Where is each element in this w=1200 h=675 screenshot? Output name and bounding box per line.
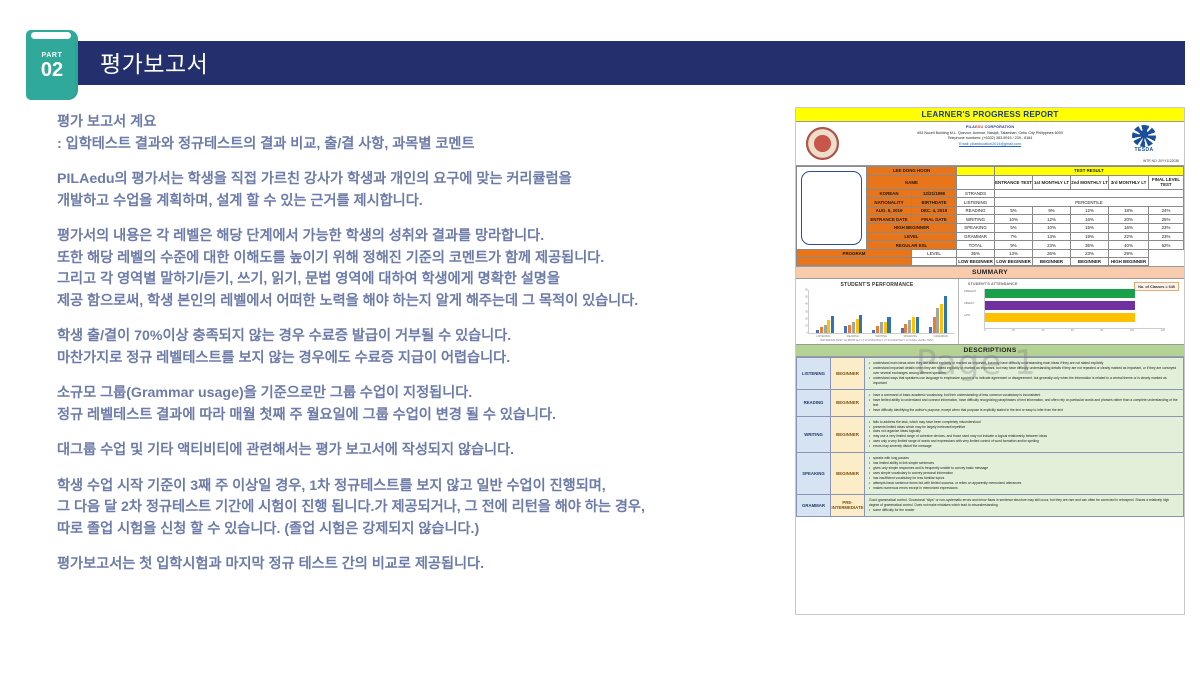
x-tick: 60	[1071, 329, 1074, 332]
table-row: LEE DONG HOONTEST RESULT	[797, 167, 1184, 176]
result-column-header-4: FINAL LEVEL TEST	[1149, 175, 1184, 189]
bar	[872, 330, 875, 334]
value-3-4: 52%	[1149, 241, 1184, 250]
paragraph-line: PILAedu의 평가서는 학생을 직접 가르친 강사가 학생과 개인의 요구에…	[57, 169, 777, 191]
paragraph-line: 마찬가지로 정규 레벨테스트를 보지 않는 경우에도 수료증 지급이 어렵습니다…	[57, 348, 777, 370]
attendance-label: ABSENT	[964, 302, 974, 305]
bar	[859, 315, 862, 333]
description-bullet: have difficulty identifying the author's…	[869, 408, 1179, 413]
x-tick-label: LISTENING	[816, 335, 830, 338]
paragraph-line: 또한 해당 레벨의 수준에 대한 이해도를 높이기 위해 정해진 기준의 코멘트…	[57, 248, 777, 270]
info-program-pad	[797, 258, 912, 266]
body-copy: 평가 보고서 계요: 입학테스트 결과와 정규테스트의 결과 비교, 출/결 사…	[57, 112, 777, 576]
strands-label: STRANDS	[957, 189, 995, 198]
x-tick-label: SPEAKING	[904, 335, 918, 338]
blank-cell	[957, 175, 995, 189]
paragraph: PILAedu의 평가서는 학생을 직접 가르친 강사가 학생과 개인의 요구에…	[57, 169, 777, 212]
descriptions-table: LISTENINGBEGINNERunderstand main ideas w…	[796, 357, 1184, 516]
info-nationality-label: NATIONALITY	[867, 198, 912, 207]
y-tick: 20	[805, 317, 808, 320]
bar-group	[816, 290, 834, 333]
value-2-3: 22%	[1109, 232, 1149, 241]
paragraph-line: 학생 수업 시작 기준이 3째 주 이상일 경우, 1차 정규테스트를 보지 않…	[57, 476, 777, 498]
value-4-4: 29%	[1109, 250, 1149, 258]
description-level: PRE-INTERMEDIATE	[831, 494, 865, 516]
value-4-1: 13%	[995, 250, 1033, 258]
name-header: NAME	[867, 175, 957, 189]
bar	[852, 322, 855, 333]
value-1-1: 10%	[1033, 224, 1071, 233]
performance-plot: 0102030405060	[808, 290, 954, 334]
header-bar	[58, 41, 1185, 85]
report-letterhead: PILAEDU CORPORATION #93 Nucell Building …	[796, 122, 1184, 166]
bar	[880, 322, 883, 333]
value-2-2: 19%	[1071, 232, 1109, 241]
description-skill: SPEAKING	[797, 453, 831, 495]
value-0-3: 20%	[1109, 215, 1149, 224]
attendance-row: LATE	[985, 313, 1165, 322]
part-number: 02	[26, 59, 78, 82]
paragraph-line: 학생 출/결이 70%이상 충족되지 않는 경우 수료증 발급이 거부될 수 있…	[57, 326, 777, 348]
y-tick: 40	[805, 303, 808, 306]
info-birthdate-value: 12/21/1998	[912, 189, 957, 198]
progress-report-document: LEARNER'S PROGRESS REPORT PILAEDU CORPOR…	[795, 107, 1185, 615]
description-row: GRAMMARPRE-INTERMEDIATEGood grammatical …	[797, 494, 1184, 516]
level-value-0: LOW BEGINNER	[957, 258, 995, 266]
value-1-3: 16%	[1109, 224, 1149, 233]
value-0-0: 10%	[995, 215, 1033, 224]
description-bullet: some difficulty for the reader	[869, 508, 1179, 513]
value-1-0: 5%	[995, 224, 1033, 233]
bar-group	[929, 290, 947, 333]
bar	[816, 330, 819, 334]
y-tick: 30	[805, 310, 808, 313]
bar	[908, 320, 911, 334]
paragraph: 대그룹 수업 및 기타 액티비티에 관련해서는 평가 보고서에 작성되지 않습니…	[57, 440, 777, 462]
description-level: BEGINNER	[831, 389, 865, 416]
bar	[856, 319, 859, 333]
bar	[936, 308, 939, 333]
legend: ENTRANCE TEST 1st MONTHLY LT 2nd MONTHLY…	[798, 339, 956, 342]
description-paragraph: Good grammatical control. Occasional "sl…	[869, 498, 1179, 508]
info-final-date-value: DEC. 4, 2019	[912, 206, 957, 215]
x-tick: 100	[1130, 329, 1134, 332]
strand-label-4: LEVEL	[912, 250, 957, 258]
bar	[824, 325, 827, 334]
result-column-header-0: ENTRANCE TEST	[995, 175, 1033, 189]
description-row: SPEAKINGBEGINNERspeaks with long pausesh…	[797, 453, 1184, 495]
description-bullet: makes numerous errors except in memorize…	[869, 486, 1179, 491]
test-result-header: TEST RESULT	[995, 167, 1184, 176]
listening-value-2: 12%	[1071, 206, 1109, 215]
bar	[929, 327, 932, 333]
info-entrance-date-value: AUG. 5, 2019	[867, 206, 912, 215]
attendance-row: PRESENT	[985, 289, 1165, 298]
paragraph-line: 평가보고서는 첫 입학시험과 마지막 정규 테스트 간의 비교로 제공됩니다.	[57, 554, 777, 576]
paragraph-line: 정규 레벨테스트 결과에 따라 매월 첫째 주 월요일에 그룹 수업이 변경 될…	[57, 405, 777, 427]
info-row-1: HIGH BEGINNER	[867, 224, 957, 233]
paragraph-line: 평가 보고서 계요	[57, 112, 777, 134]
value-3-0: 9%	[995, 241, 1033, 250]
info-korean: KOREAN	[867, 189, 912, 198]
value-3-2: 35%	[1071, 241, 1109, 250]
attendance-bar	[985, 301, 1135, 310]
value-2-4: 23%	[1149, 232, 1184, 241]
performance-y-axis: 0102030405060	[799, 290, 809, 333]
attendance-label: LATE	[964, 314, 970, 317]
value-1-4: 23%	[1149, 224, 1184, 233]
bar	[848, 325, 851, 334]
result-column-header-2: 2nd MONTHLY LT	[1071, 175, 1109, 189]
paragraph: 평가 보고서 계요: 입학테스트 결과와 정규테스트의 결과 비교, 출/결 사…	[57, 112, 777, 155]
photo-cell	[797, 167, 867, 250]
paragraph-line: 대그룹 수업 및 기타 액티비티에 관련해서는 평가 보고서에 작성되지 않습니…	[57, 440, 777, 462]
attendance-x-axis: 020406080100120	[984, 329, 1165, 332]
attendance-plot: PRESENTABSENTLATE	[984, 289, 1165, 329]
performance-chart: STUDENT'S PERFORMANCE 0102030405060 LIST…	[796, 279, 959, 344]
student-photo-placeholder	[801, 171, 862, 245]
blank-cell	[995, 189, 1184, 198]
description-text: Good grammatical control. Occasional "sl…	[865, 494, 1184, 516]
tesda-gear-icon	[1132, 125, 1156, 147]
strand-reading: READING	[957, 206, 995, 215]
x-tick: 80	[1100, 329, 1103, 332]
strand-label-2: GRAMMAR	[957, 232, 995, 241]
page-title: 평가보고서	[100, 44, 208, 84]
strand-label-0: WRITING	[957, 215, 995, 224]
spacer-cell	[957, 167, 995, 176]
bar-group	[872, 290, 890, 333]
tesda-number: WTR NO: 20YY1122036	[1143, 159, 1179, 163]
bar	[901, 328, 904, 333]
description-bullet: understand ways that speakers use langua…	[869, 376, 1179, 386]
report-title: LEARNER'S PROGRESS REPORT	[796, 108, 1184, 122]
bar	[844, 326, 847, 333]
listening-value-3: 18%	[1109, 206, 1149, 215]
paragraph-line: 평가서의 내용은 각 레벨은 해당 단계에서 가능한 학생의 성취와 결과를 망…	[57, 226, 777, 248]
y-tick: 0	[807, 332, 808, 335]
x-tick-label: WRITING	[875, 335, 887, 338]
strand-label-3: TOTAL	[957, 241, 995, 250]
percentile-label: PERCENTILE	[995, 198, 1184, 207]
description-text: understand main ideas when they are stat…	[865, 358, 1184, 390]
paragraph-line: 그 다음 달 2차 정규테스트 기간에 시험이 진행 됩니다.가 제공되거나, …	[57, 497, 777, 519]
student-results-table: LEE DONG HOONTEST RESULTNAMEENTRANCE TES…	[796, 166, 1184, 266]
level-value-2: BEGINNER	[1033, 258, 1071, 266]
book-page-icon	[31, 32, 71, 39]
org-name-suffix: CORPORATION	[983, 125, 1014, 129]
paragraph-line: 그리고 각 영역별 말하기/듣기, 쓰기, 읽기, 문법 영역에 대하여 학생에…	[57, 269, 777, 291]
value-3-1: 23%	[1033, 241, 1071, 250]
value-1-2: 15%	[1071, 224, 1109, 233]
tesda-name: TESDA	[1118, 147, 1170, 153]
value-3-3: 40%	[1109, 241, 1149, 250]
result-column-header-3: 3rd MONTHLY LT	[1109, 175, 1149, 189]
company-seal-icon	[806, 127, 839, 160]
bar	[820, 327, 823, 333]
description-skill: LISTENING	[797, 358, 831, 390]
info-row-0-left: ENTRANCE DATE	[867, 215, 912, 224]
paragraph-line: 제공 함으로써, 학생 본인의 레벨에서 어떠한 노력을 해야 하는지 알게 해…	[57, 291, 777, 313]
table-row: LOW BEGINNERLOW BEGINNERBEGINNERBEGINNER…	[797, 258, 1184, 266]
listening-value-0: 5%	[995, 206, 1033, 215]
description-level: BEGINNER	[831, 453, 865, 495]
bar	[933, 317, 936, 333]
value-4-2: 26%	[1033, 250, 1071, 258]
level-value-1: LOW BEGINNER	[995, 258, 1033, 266]
info-row-2: LEVEL	[867, 232, 957, 241]
bar	[904, 324, 907, 333]
result-column-header-1: 1st MONTHLY LT	[1033, 175, 1071, 189]
table-row: PROGRAMLEVEL36%13%26%23%29%	[797, 250, 1184, 258]
x-tick: 40	[1041, 329, 1044, 332]
org-name-prefix: PILA	[966, 125, 975, 129]
bar-group	[844, 290, 862, 333]
x-tick: 20	[1012, 329, 1015, 332]
listening-value-1: 9%	[1033, 206, 1071, 215]
value-4-3: 23%	[1071, 250, 1109, 258]
description-skill: READING	[797, 389, 831, 416]
info-row-0-right: FINAL DATE	[912, 215, 957, 224]
description-bullet: errors may severely distort the message	[869, 444, 1179, 449]
paragraph: 평가서의 내용은 각 레벨은 해당 단계에서 가능한 학생의 성취와 결과를 망…	[57, 226, 777, 312]
attendance-row: ABSENT	[985, 301, 1165, 310]
x-tick-label: READING	[847, 335, 859, 338]
level-value-3: BEGINNER	[1071, 258, 1109, 266]
value-0-1: 12%	[1033, 215, 1071, 224]
description-row: LISTENINGBEGINNERunderstand main ideas w…	[797, 358, 1184, 390]
paragraph: 평가보고서는 첫 입학시험과 마지막 정규 테스트 간의 비교로 제공됩니다.	[57, 554, 777, 576]
attendance-bar	[985, 289, 1135, 298]
value-0-2: 16%	[1071, 215, 1109, 224]
paragraph: 소규모 그룹(Grammar usage)을 기준으로만 그룹 수업이 지정됩니…	[57, 383, 777, 426]
info-row-3: REGULAR ESL	[867, 241, 957, 250]
summary-charts: STUDENT'S PERFORMANCE 0102030405060 LIST…	[796, 279, 1184, 345]
x-tick-label: GRAMMAR	[934, 335, 948, 338]
paragraph-line: 소규모 그룹(Grammar usage)을 기준으로만 그룹 수업이 지정됩니…	[57, 383, 777, 405]
description-bullet: understand important details when they a…	[869, 366, 1179, 376]
attendance-label: PRESENT	[964, 290, 976, 293]
bar	[831, 316, 834, 333]
description-level: BEGINNER	[831, 358, 865, 390]
info-row-4: PROGRAM	[797, 250, 912, 258]
y-tick: 60	[805, 289, 808, 292]
description-text: speaks with long pauseshas limited abili…	[865, 453, 1184, 495]
level-value-4: HIGH BEGINNER	[1109, 258, 1149, 266]
x-tick: 0	[984, 329, 985, 332]
slide-root: PART 02 평가보고서 평가 보고서 계요: 입학테스트 결과와 정규테스트…	[0, 0, 1200, 675]
performance-x-labels: LISTENINGREADINGWRITINGSPEAKINGGRAMMAR	[808, 335, 956, 338]
description-text: fails to address the task, which may hav…	[865, 416, 1184, 453]
x-tick: 120	[1161, 329, 1165, 332]
description-text: have a command of basic academic vocabul…	[865, 389, 1184, 416]
summary-band: SUMMARY	[796, 266, 1184, 279]
description-bullet: have limited ability to understand and c…	[869, 398, 1179, 408]
bar	[827, 320, 830, 333]
value-0-4: 25%	[1149, 215, 1184, 224]
y-tick: 10	[805, 324, 808, 327]
y-tick: 50	[805, 296, 808, 299]
value-4-0: 36%	[957, 250, 995, 258]
tesda-logo: TESDA	[1118, 125, 1170, 153]
part-label: PART	[26, 52, 78, 59]
paragraph: 학생 출/결이 70%이상 충족되지 않는 경우 수료증 발급이 거부될 수 있…	[57, 326, 777, 369]
bar	[916, 317, 919, 333]
paragraph-line: : 입학테스트 결과와 정규테스트의 결과 비교, 출/결 사항, 과목별 코멘…	[57, 134, 777, 156]
bar	[887, 317, 890, 333]
bar	[912, 317, 915, 333]
performance-bars	[811, 290, 952, 333]
description-skill: GRAMMAR	[797, 494, 831, 516]
student-name-banner: LEE DONG HOON	[867, 167, 957, 176]
description-skill: WRITING	[797, 416, 831, 453]
bar-group	[901, 290, 919, 333]
strand-listening: LISTENING	[957, 198, 995, 207]
info-birthdate-label: BIRTHDATE	[912, 198, 957, 207]
performance-chart-title: STUDENT'S PERFORMANCE	[798, 282, 956, 288]
paragraph: 학생 수업 시작 기준이 3째 주 이상일 경우, 1차 정규테스트를 보지 않…	[57, 476, 777, 541]
description-level: BEGINNER	[831, 416, 865, 453]
level-pad	[912, 258, 957, 266]
descriptions-band: DESCRIPTIONS	[796, 345, 1184, 357]
bar	[940, 304, 943, 333]
bar	[876, 326, 879, 333]
bar	[944, 296, 947, 333]
attendance-bar	[985, 313, 1135, 322]
attendance-chart: STUDENT'S ATTENDANCE No. of Classes = 64…	[959, 279, 1184, 344]
description-row: READINGBEGINNERhave a command of basic a…	[797, 389, 1184, 416]
strand-label-1: SPEAKING	[957, 224, 995, 233]
paragraph-line: 개발하고 수업을 계획하며, 설계 할 수 있는 근거를 제시합니다.	[57, 191, 777, 213]
description-row: WRITINGBEGINNERfails to address the task…	[797, 416, 1184, 453]
value-2-1: 13%	[1033, 232, 1071, 241]
value-2-0: 7%	[995, 232, 1033, 241]
paragraph-line: 따로 졸업 시험을 신청 할 수 있습니다. (졸업 시험은 강제되지 않습니다…	[57, 519, 777, 541]
bar	[884, 322, 887, 333]
listening-value-4: 24%	[1149, 206, 1184, 215]
